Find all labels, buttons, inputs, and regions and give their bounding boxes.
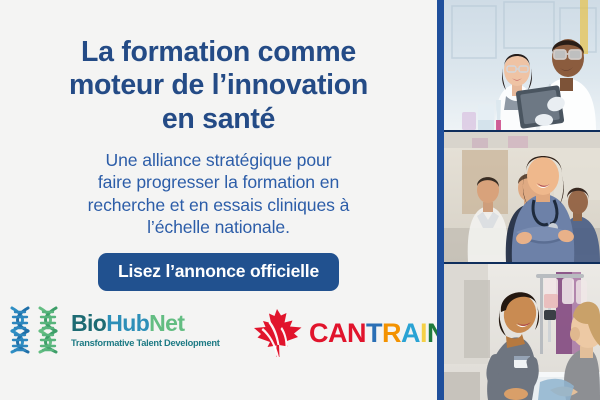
headline-line-1: La formation comme — [81, 36, 356, 68]
photo-lab-researchers — [444, 0, 600, 130]
maple-leaf-icon — [250, 307, 306, 359]
cantrain-wordmark: CANTRAIN — [309, 320, 446, 347]
cantrain-letter-7: I — [420, 318, 427, 348]
logo-row: BioHubNet Transformative Talent Developm… — [0, 303, 437, 365]
headline-line-3: en santé — [162, 103, 275, 135]
read-official-announcement-button[interactable]: Lisez l’annonce officielle — [98, 253, 339, 291]
cantrain-letter-5: R — [382, 318, 401, 348]
dna-helix-icon — [6, 305, 68, 355]
page-title: La formation comme moteur de l’innovatio… — [19, 36, 419, 136]
photo-nurse-patient — [444, 264, 600, 400]
biohubnet-word-bio: Bio — [71, 310, 106, 336]
subtitle-line-4: l’échelle nationale. — [147, 217, 290, 237]
biohubnet-word: BioHubNet — [71, 312, 220, 335]
subtitle: Une alliance stratégique pour faire prog… — [54, 149, 384, 238]
biohubnet-logo[interactable]: BioHubNet Transformative Talent Developm… — [6, 305, 220, 355]
cantrain-letter-6: A — [401, 318, 420, 348]
cantrain-letter-4: T — [366, 318, 382, 348]
biohubnet-wordmark: BioHubNet Transformative Talent Developm… — [71, 312, 220, 348]
photo-column — [444, 0, 600, 400]
subtitle-line-3: recherche et en essais cliniques à — [88, 195, 350, 215]
cantrain-logo[interactable]: CANTRAIN — [250, 307, 446, 359]
cantrain-letter-3: N — [347, 318, 366, 348]
headline-line-2: moteur de l’innovation — [69, 69, 368, 101]
subtitle-line-1: Une alliance stratégique pour — [106, 150, 332, 170]
subtitle-line-2: faire progresser la formation en — [98, 172, 339, 192]
photo-clinical-team — [444, 132, 600, 262]
cantrain-letter-1: C — [309, 318, 328, 348]
cantrain-letter-2: A — [328, 318, 347, 348]
biohubnet-word-hub: Hub — [106, 310, 149, 336]
biohubnet-word-net: Net — [149, 310, 184, 336]
content-panel: La formation comme moteur de l’innovatio… — [0, 0, 437, 400]
biohubnet-tagline: Transformative Talent Development — [71, 338, 220, 348]
vertical-accent-divider — [437, 0, 444, 400]
announcement-banner: La formation comme moteur de l’innovatio… — [0, 0, 600, 400]
